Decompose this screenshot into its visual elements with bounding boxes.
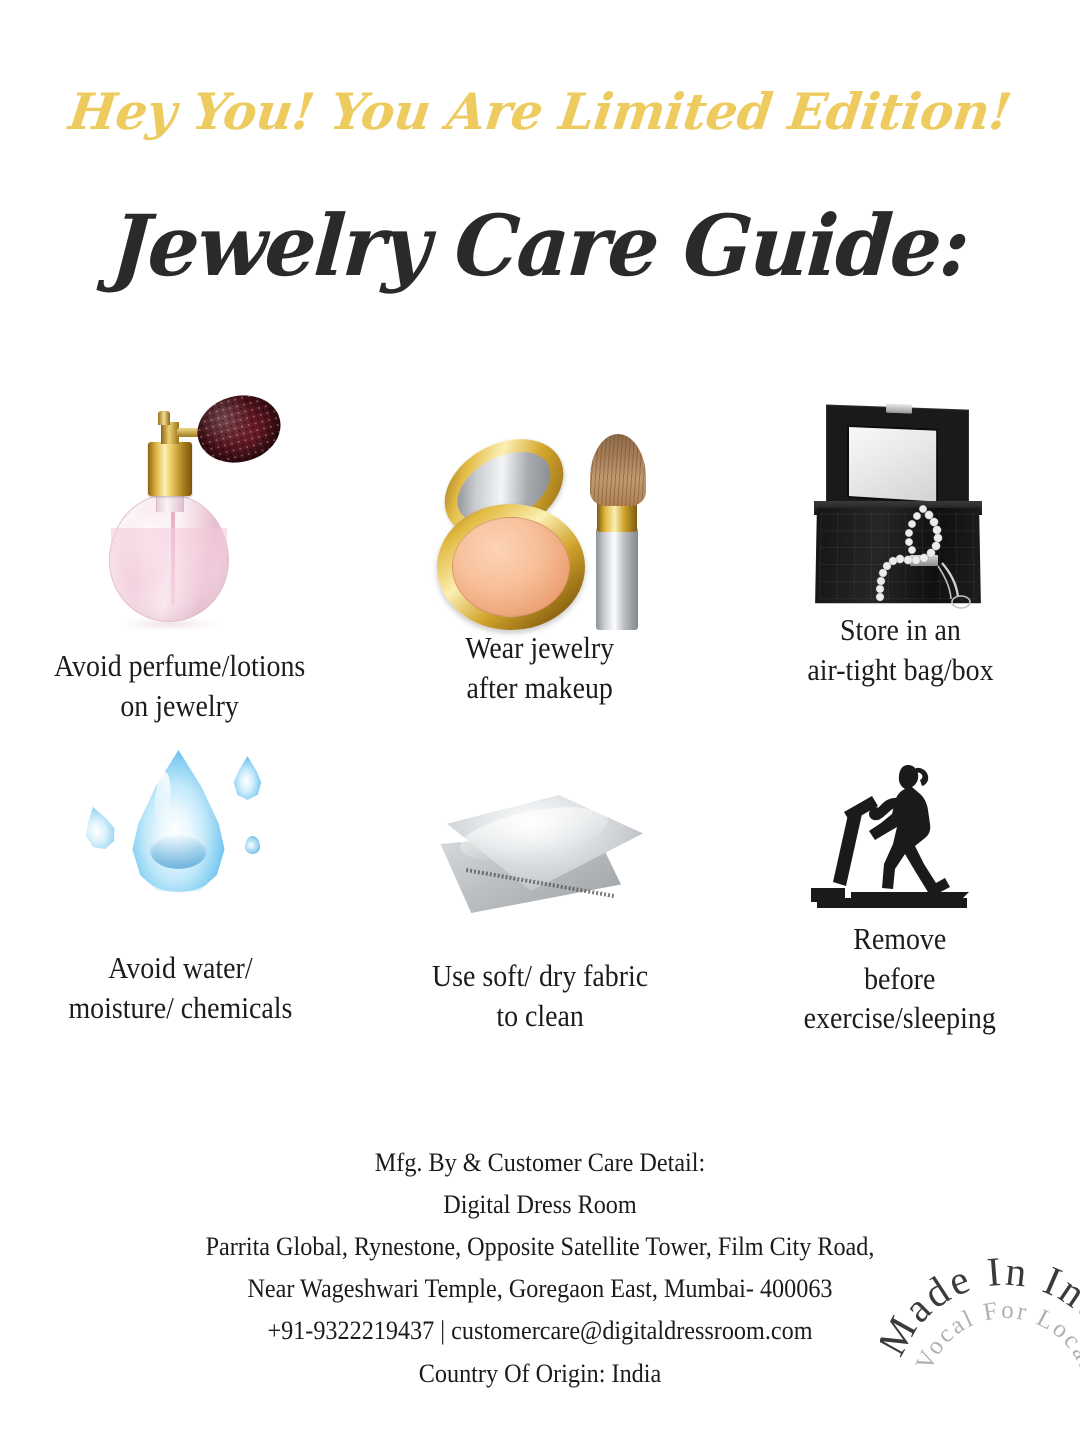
tip-caption-line: before <box>804 959 996 999</box>
jewelry-box-icon <box>798 403 1003 618</box>
footer-contact-block: Mfg. By & Customer Care Detail: Digital … <box>0 1142 1080 1395</box>
tip-caption-line: on jewelry <box>54 686 305 726</box>
care-tips-row-2: Avoid water/ moisture/ chemicals Use sof… <box>0 745 1080 1045</box>
microfiber-cloth-icon <box>425 785 655 930</box>
tip-card-perfume: Avoid perfume/lotions on jewelry <box>0 380 360 745</box>
jewelry-box-latch <box>910 555 938 566</box>
treadmill-icon-wrap <box>803 745 998 915</box>
cloth-icon-wrap <box>425 745 655 930</box>
makeup-compact-brush-icon <box>433 430 648 630</box>
jewelry-box-lid-mirror <box>847 425 938 504</box>
tip-caption-line: Avoid water/ <box>68 948 292 988</box>
compact-powder-pan <box>452 517 570 617</box>
jewelry-box-quilted-body <box>815 508 981 603</box>
perfume-bottle-icon <box>65 395 295 630</box>
tip-caption-line: Store in an <box>807 610 993 650</box>
tip-caption-perfume: Avoid perfume/lotions on jewelry <box>54 646 305 725</box>
makeup-icon-wrap <box>433 380 648 630</box>
tip-caption-makeup: Wear jewelry after makeup <box>466 628 615 707</box>
tip-caption-line: to clean <box>432 996 648 1036</box>
tip-caption-line: exercise/sleeping <box>804 998 996 1038</box>
water-drop-icon <box>73 740 288 930</box>
care-tips-row-1: Avoid perfume/lotions on jewelry <box>0 380 1080 745</box>
jewelry-box-icon-wrap <box>798 380 1003 618</box>
perfume-atomizer-bulb <box>190 387 287 471</box>
tip-caption-water: Avoid water/ moisture/ chemicals <box>68 948 292 1027</box>
perfume-gold-nub <box>158 411 170 425</box>
tip-caption-line: Use soft/ dry fabric <box>432 956 648 996</box>
tip-caption-line: moisture/ chemicals <box>68 988 292 1028</box>
perfume-gold-collar <box>148 442 192 496</box>
footer-line-origin: Country Of Origin: India <box>38 1353 1042 1395</box>
tip-caption-exercise: Remove before exercise/sleeping <box>804 919 996 1038</box>
care-tips-grid: Avoid perfume/lotions on jewelry <box>0 380 1080 1045</box>
footer-line-contact: +91-9322219437 | customercare@digitaldre… <box>38 1310 1042 1352</box>
compact-powder-base <box>437 504 585 630</box>
tip-card-storage: Store in an air-tight bag/box <box>720 380 1080 745</box>
tip-card-exercise: Remove before exercise/sleeping <box>720 745 1080 1045</box>
brush-handle <box>596 526 638 630</box>
jewelry-care-guide-page: Hey You! You Are Limited Edition! Jewelr… <box>0 0 1080 1440</box>
tip-caption-line: Remove <box>804 919 996 959</box>
tip-card-cloth: Use soft/ dry fabric to clean <box>360 745 720 1045</box>
tip-caption-line: air-tight bag/box <box>807 650 993 690</box>
tip-caption-line: Avoid perfume/lotions <box>54 646 305 686</box>
tip-card-water: Avoid water/ moisture/ chemicals <box>0 745 360 1045</box>
footer-line-address-2: Near Wageshwari Temple, Goregaon East, M… <box>38 1268 1042 1310</box>
treadmill-runner-icon <box>803 750 998 915</box>
footer-line-address-1: Parrita Global, Rynestone, Opposite Sate… <box>38 1226 1042 1268</box>
water-droplet-tiny-right <box>245 836 260 854</box>
tip-card-makeup: Wear jewelry after makeup <box>360 380 720 745</box>
perfume-icon-wrap <box>65 380 295 630</box>
tip-caption-storage: Store in an air-tight bag/box <box>807 610 993 689</box>
tip-caption-line: after makeup <box>466 668 615 708</box>
page-title: Jewelry Care Guide: <box>18 196 1062 295</box>
eyebrow-tagline: Hey You! You Are Limited Edition! <box>0 82 1080 141</box>
footer-line-mfg: Mfg. By & Customer Care Detail: <box>38 1142 1042 1184</box>
water-drop-main <box>131 750 227 892</box>
tip-caption-line: Wear jewelry <box>466 628 615 668</box>
water-droplet-small-top <box>233 756 263 800</box>
tip-caption-cloth: Use soft/ dry fabric to clean <box>432 956 648 1035</box>
footer-line-company: Digital Dress Room <box>38 1184 1042 1226</box>
brush-bristles <box>590 434 646 506</box>
water-droplet-small-left <box>77 802 120 853</box>
water-drop-icon-wrap <box>73 745 288 930</box>
jewelry-box-clasp <box>886 404 912 414</box>
